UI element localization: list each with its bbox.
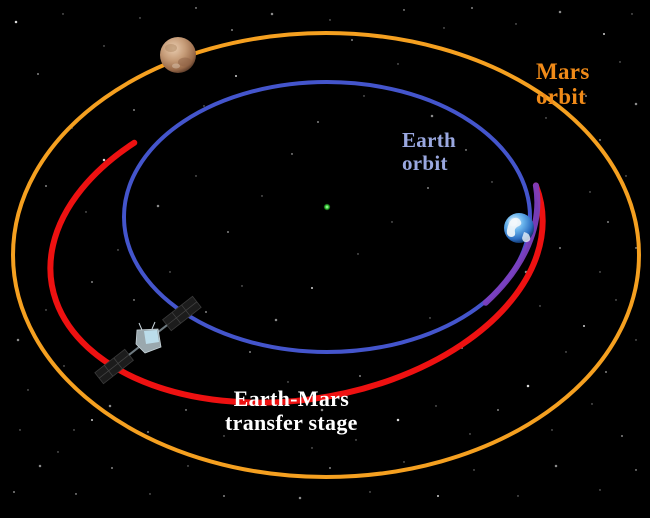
earth-planet (504, 213, 534, 243)
earth-orbit-label: Earth orbit (402, 129, 456, 174)
spacecraft (86, 285, 208, 393)
sun-body (324, 204, 330, 210)
mars-planet (160, 37, 196, 73)
mars-orbit-label: Mars orbit (536, 60, 590, 110)
transfer-stage-label: Earth-Mars transfer stage (225, 387, 358, 435)
orbital-diagram: Mars orbit Earth orbit Earth-Mars transf… (0, 0, 650, 518)
